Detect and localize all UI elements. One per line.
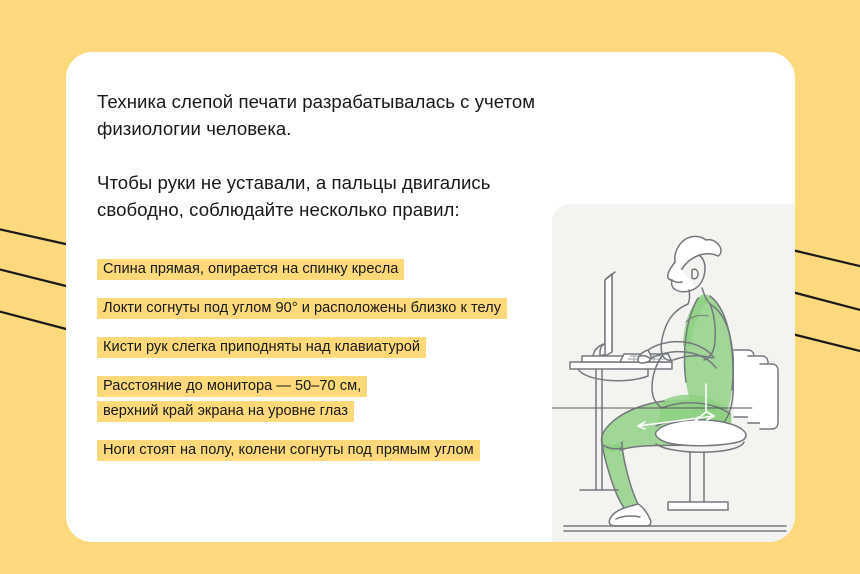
deco-line-right-1 (792, 250, 860, 268)
intro-paragraph-1: Техника слепой печати разрабатывалась с … (97, 88, 556, 142)
rule-highlight-5: Ноги стоят на полу, колени согнуты под п… (97, 440, 480, 461)
poster-canvas: Техника слепой печати разрабатывалась с … (0, 0, 860, 574)
deco-line-right-2 (792, 292, 860, 312)
list-item: Кисти рук слегка приподняты над клавиату… (97, 335, 556, 360)
rule-highlight-1: Спина прямая, опирается на спинку кресла (97, 259, 404, 280)
intro-paragraph-2: Чтобы руки не уставали, а пальцы двигали… (97, 169, 556, 223)
list-item: Ноги стоят на полу, колени согнуты под п… (97, 438, 556, 463)
rules-list: Спина прямая, опирается на спинку кресла… (97, 257, 556, 463)
deco-line-right-3 (792, 334, 860, 353)
illustration-panel (552, 204, 795, 542)
rule-highlight-4: Расстояние до монитора — 50–70 см, верхн… (97, 376, 367, 422)
ergonomic-posture-icon (552, 204, 795, 542)
content-card: Техника слепой печати разрабатывалась с … (66, 52, 795, 542)
deco-line-left-2 (0, 268, 70, 287)
list-item: Локти согнуты под углом 90° и расположен… (97, 296, 556, 321)
card-text-column: Техника слепой печати разрабатывалась с … (66, 52, 556, 542)
list-item: Расстояние до монитора — 50–70 см, верхн… (97, 374, 556, 424)
deco-line-left-1 (0, 228, 70, 245)
list-item: Спина прямая, опирается на спинку кресла (97, 257, 556, 282)
rule-highlight-2: Локти согнуты под углом 90° и расположен… (97, 298, 507, 319)
rule-highlight-3: Кисти рук слегка приподняты над клавиату… (97, 337, 426, 358)
deco-line-left-3 (0, 310, 70, 330)
intro-text-block: Техника слепой печати разрабатывалась с … (97, 88, 556, 223)
